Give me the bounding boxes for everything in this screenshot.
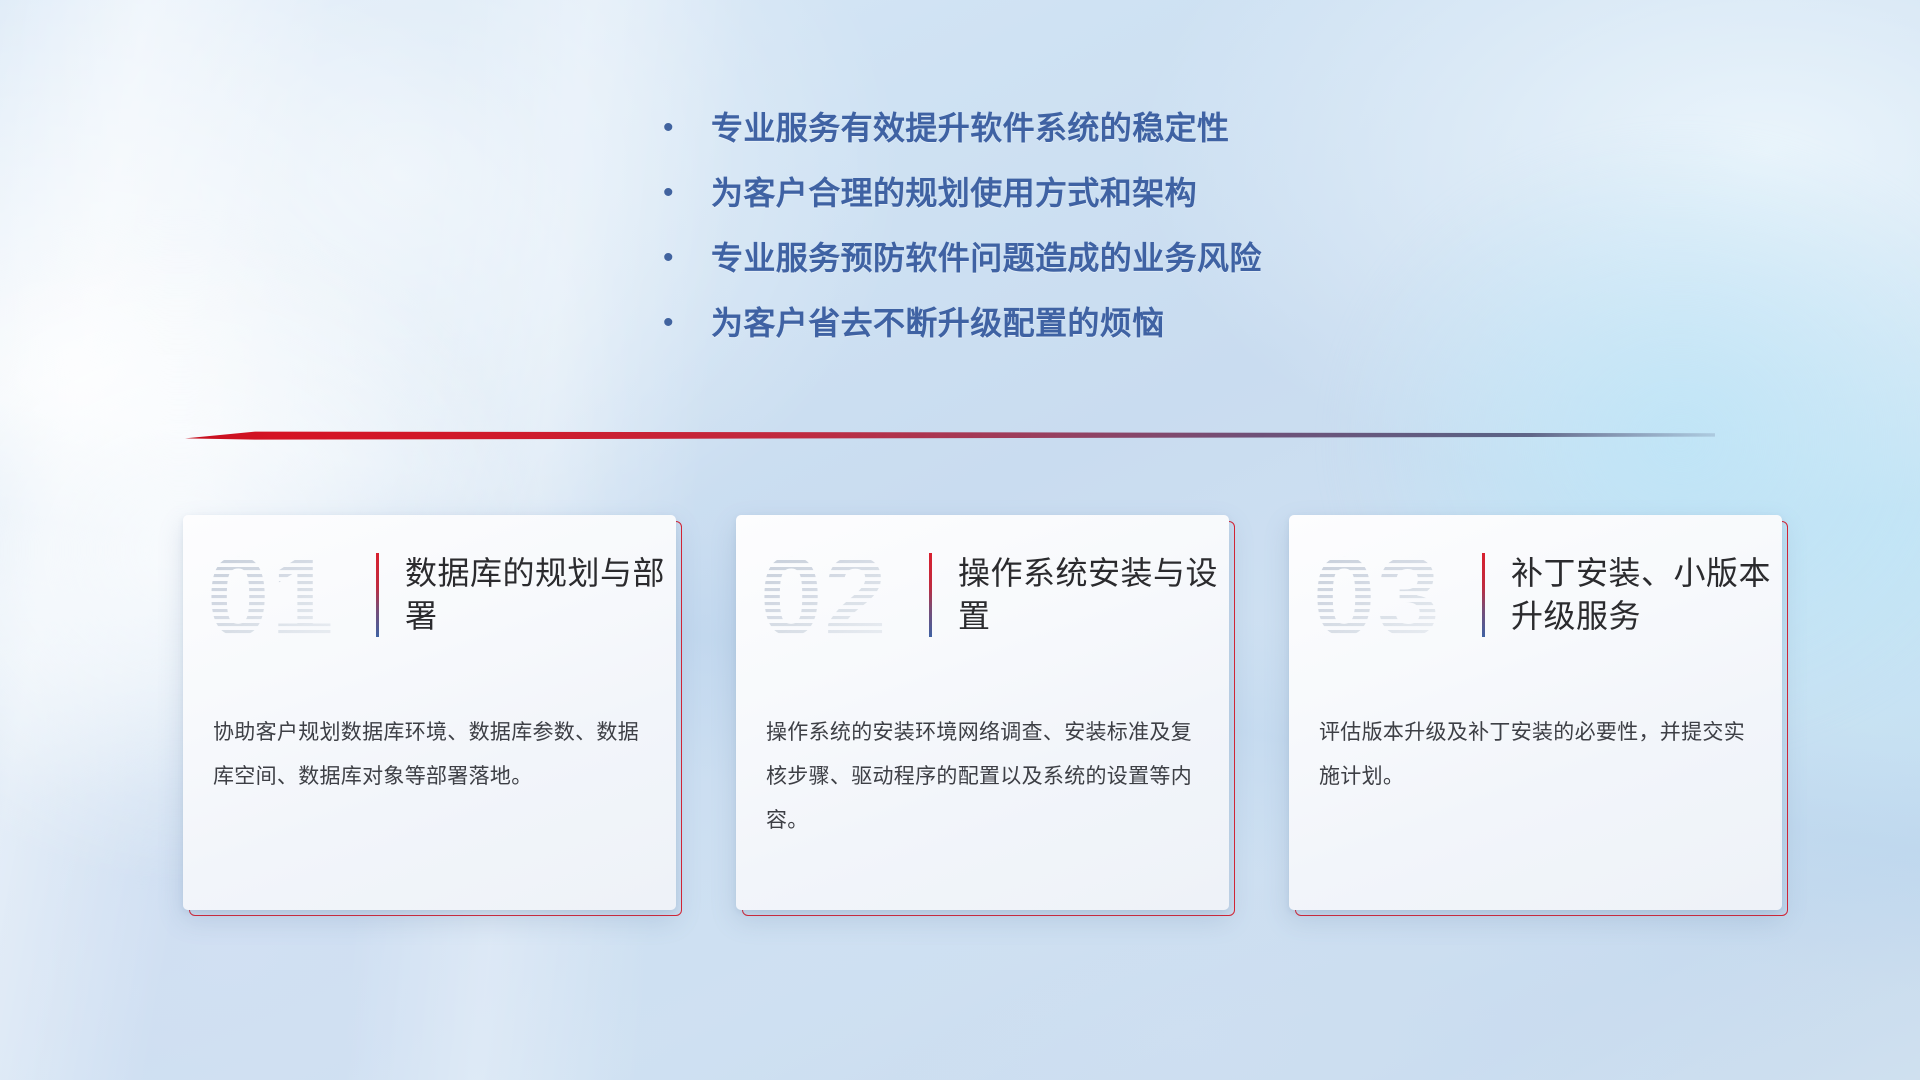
service-card[interactable]: 03 补丁安装、小版本升级服务 评估版本升级及补丁安装的必要性，并提交实施计划。 — [1289, 515, 1782, 910]
bullet-dot-icon: • — [663, 108, 683, 148]
list-item: • 专业服务预防软件问题造成的业务风险 — [663, 238, 1563, 303]
card-title: 数据库的规划与部署 — [405, 552, 676, 638]
bullet-dot-icon: • — [663, 173, 683, 213]
card-surface: 01 数据库的规划与部署 协助客户规划数据库环境、数据库参数、数据库空间、数据库… — [183, 515, 676, 910]
service-card[interactable]: 02 操作系统安装与设置 操作系统的安装环境网络调查、安装标准及复核步骤、驱动程… — [736, 515, 1229, 910]
ghost-number-glyph: 03 — [1311, 539, 1476, 651]
card-description: 评估版本升级及补丁安装的必要性，并提交实施计划。 — [1289, 675, 1782, 799]
bullet-text: 专业服务预防软件问题造成的业务风险 — [711, 238, 1262, 278]
ghost-number-text: 03 — [1313, 539, 1442, 651]
section-divider — [185, 427, 1715, 443]
ghost-number-text: 01 — [207, 539, 336, 651]
service-card[interactable]: 01 数据库的规划与部署 协助客户规划数据库环境、数据库参数、数据库空间、数据库… — [183, 515, 676, 910]
card-header: 01 数据库的规划与部署 — [183, 515, 676, 675]
bullet-dot-icon: • — [663, 238, 683, 278]
card-title-rule — [376, 553, 379, 637]
ghost-number-text: 02 — [760, 539, 889, 651]
card-surface: 03 补丁安装、小版本升级服务 评估版本升级及补丁安装的必要性，并提交实施计划。 — [1289, 515, 1782, 910]
card-number-watermark: 03 — [1311, 539, 1476, 651]
card-number-watermark: 02 — [758, 539, 923, 651]
benefits-bullet-list: • 专业服务有效提升软件系统的稳定性 • 为客户合理的规划使用方式和架构 • 专… — [663, 108, 1563, 368]
bullet-text: 为客户合理的规划使用方式和架构 — [711, 173, 1197, 213]
bullet-dot-icon: • — [663, 303, 683, 343]
card-title-rule — [929, 553, 932, 637]
divider-blade-shape — [185, 427, 1715, 443]
list-item: • 专业服务有效提升软件系统的稳定性 — [663, 108, 1563, 173]
card-number-watermark: 01 — [205, 539, 370, 651]
card-title: 补丁安装、小版本升级服务 — [1511, 552, 1782, 638]
service-card-row: 01 数据库的规划与部署 协助客户规划数据库环境、数据库参数、数据库空间、数据库… — [183, 515, 1783, 915]
card-title: 操作系统安装与设置 — [958, 552, 1229, 638]
card-title-rule — [1482, 553, 1485, 637]
ghost-number-glyph: 02 — [758, 539, 923, 651]
card-header: 02 操作系统安装与设置 — [736, 515, 1229, 675]
ghost-number-glyph: 01 — [205, 539, 370, 651]
bullet-text: 专业服务有效提升软件系统的稳定性 — [711, 108, 1229, 148]
list-item: • 为客户省去不断升级配置的烦恼 — [663, 303, 1563, 368]
card-header: 03 补丁安装、小版本升级服务 — [1289, 515, 1782, 675]
card-description: 操作系统的安装环境网络调查、安装标准及复核步骤、驱动程序的配置以及系统的设置等内… — [736, 675, 1229, 843]
card-surface: 02 操作系统安装与设置 操作系统的安装环境网络调查、安装标准及复核步骤、驱动程… — [736, 515, 1229, 910]
card-description: 协助客户规划数据库环境、数据库参数、数据库空间、数据库对象等部署落地。 — [183, 675, 676, 799]
bullet-text: 为客户省去不断升级配置的烦恼 — [711, 303, 1165, 343]
list-item: • 为客户合理的规划使用方式和架构 — [663, 173, 1563, 238]
